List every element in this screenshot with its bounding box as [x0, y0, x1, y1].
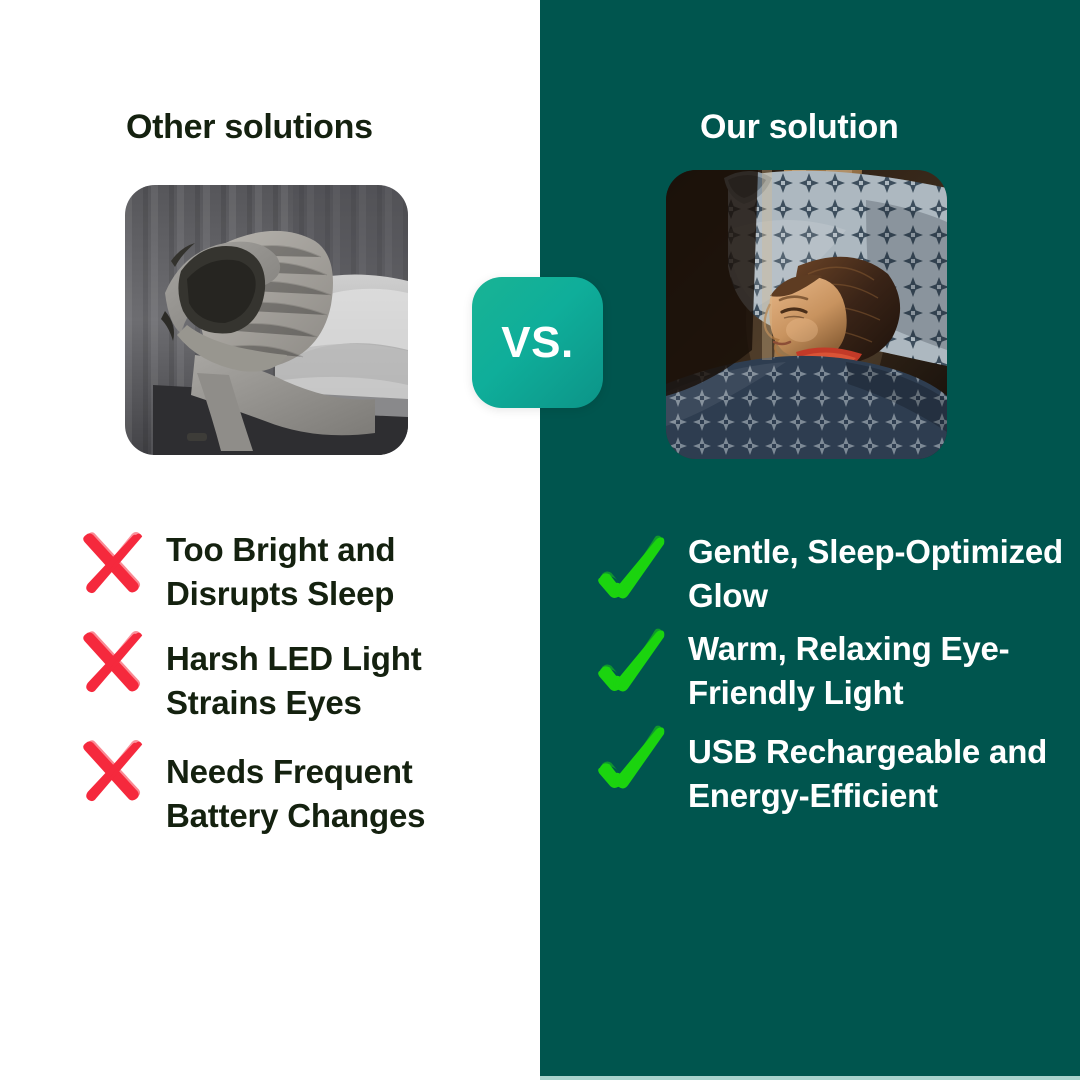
our-solution-photo	[666, 170, 947, 459]
cross-icon	[72, 623, 150, 701]
cross-icon	[72, 524, 150, 602]
list-item-label: Needs Frequent Battery Changes	[166, 732, 522, 837]
comparison-infographic: Other solutions	[0, 0, 1080, 1080]
versus-badge-label: VS.	[501, 321, 573, 365]
distressed-person-photo-illustration	[125, 185, 408, 455]
list-item-label: Too Bright and Disrupts Sleep	[166, 524, 522, 615]
list-item: Gentle, Sleep-Optimized Glow	[592, 528, 1072, 617]
list-item-label: Harsh LED Light Strains Eyes	[166, 623, 522, 724]
check-icon	[592, 718, 672, 798]
our-solution-list: Gentle, Sleep-Optimized Glow Warm, Relax…	[592, 528, 1072, 821]
list-item: Harsh LED Light Strains Eyes	[72, 623, 522, 724]
other-solutions-photo	[125, 185, 408, 455]
list-item-label: Warm, Relaxing Eye-Friendly Light	[688, 621, 1072, 714]
sleeping-child-photo-illustration	[666, 170, 947, 459]
list-item: Too Bright and Disrupts Sleep	[72, 524, 522, 615]
list-item-label: Gentle, Sleep-Optimized Glow	[688, 528, 1072, 617]
other-solutions-list: Too Bright and Disrupts Sleep Harsh LED …	[72, 524, 522, 845]
list-item: Warm, Relaxing Eye-Friendly Light	[592, 621, 1072, 714]
list-item: Needs Frequent Battery Changes	[72, 732, 522, 837]
check-icon	[592, 528, 672, 608]
left-panel-heading: Other solutions	[126, 108, 373, 147]
other-solutions-panel: Other solutions	[0, 0, 540, 1080]
panel-bottom-strip	[540, 1076, 1080, 1080]
list-item: USB Rechargeable and Energy-Efficient	[592, 718, 1072, 817]
right-panel-heading: Our solution	[700, 108, 899, 147]
list-item-label: USB Rechargeable and Energy-Efficient	[688, 718, 1072, 817]
versus-badge: VS.	[472, 277, 603, 408]
cross-icon	[72, 732, 150, 810]
check-icon	[592, 621, 672, 701]
